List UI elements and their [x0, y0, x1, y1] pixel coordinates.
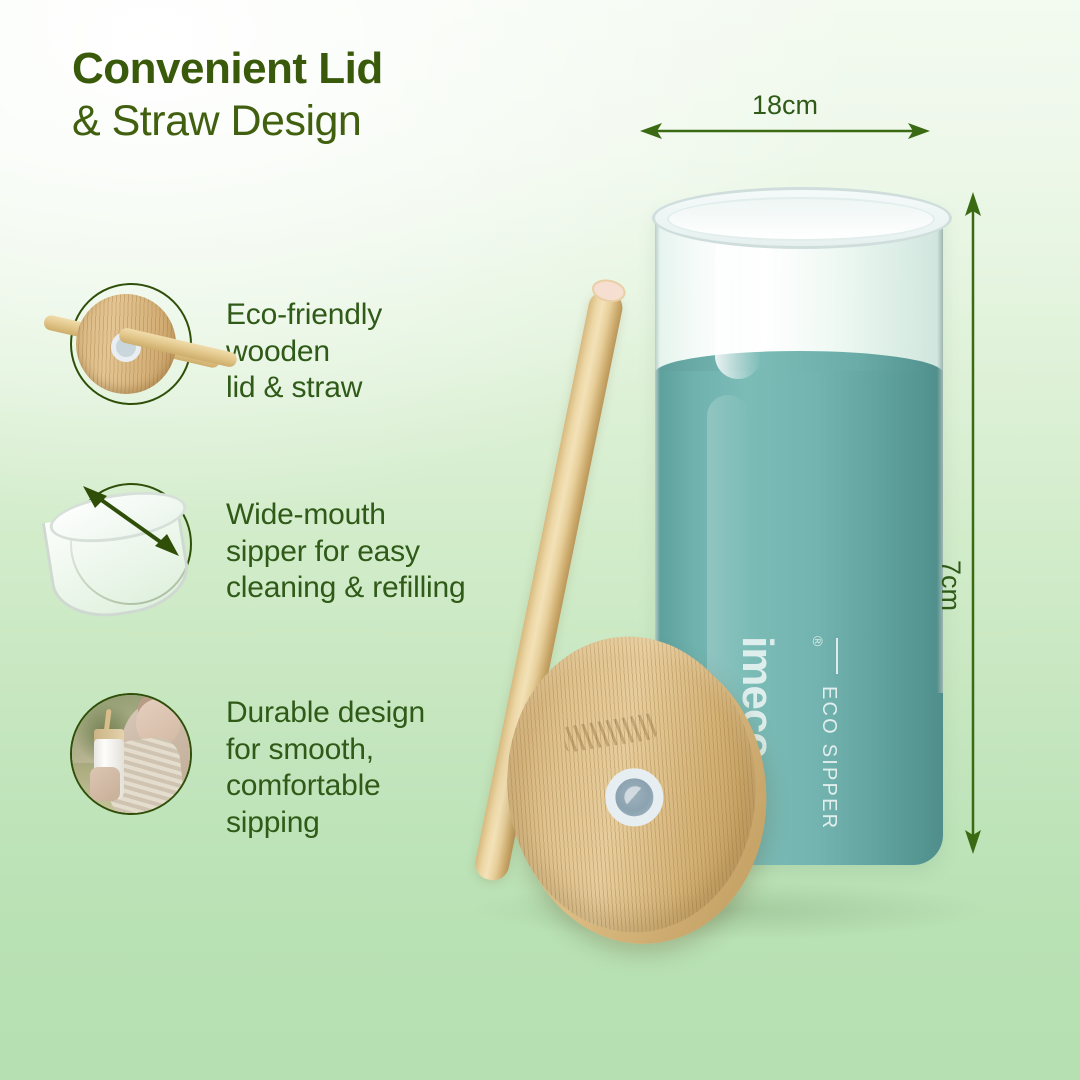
width-dimension-arrow: [640, 120, 930, 142]
brand-divider: [836, 638, 838, 674]
width-dimension-label: 18cm: [640, 90, 930, 121]
glass-wall-left: [655, 223, 660, 693]
glass-wall-right: [937, 223, 943, 693]
glass-rim-inner: [667, 197, 935, 241]
height-dimension-arrow: [962, 192, 984, 854]
infographic-canvas: Convenient Lid & Straw Design Eco-friend…: [0, 0, 1080, 1080]
bamboo-lid: [497, 627, 780, 957]
registered-trademark-icon: ®: [810, 636, 826, 646]
glass-highlight: [715, 229, 761, 379]
product-illustration: imeco ® ECO SIPPER: [0, 0, 1080, 1080]
brand-subtitle: ECO SIPPER: [817, 686, 840, 830]
